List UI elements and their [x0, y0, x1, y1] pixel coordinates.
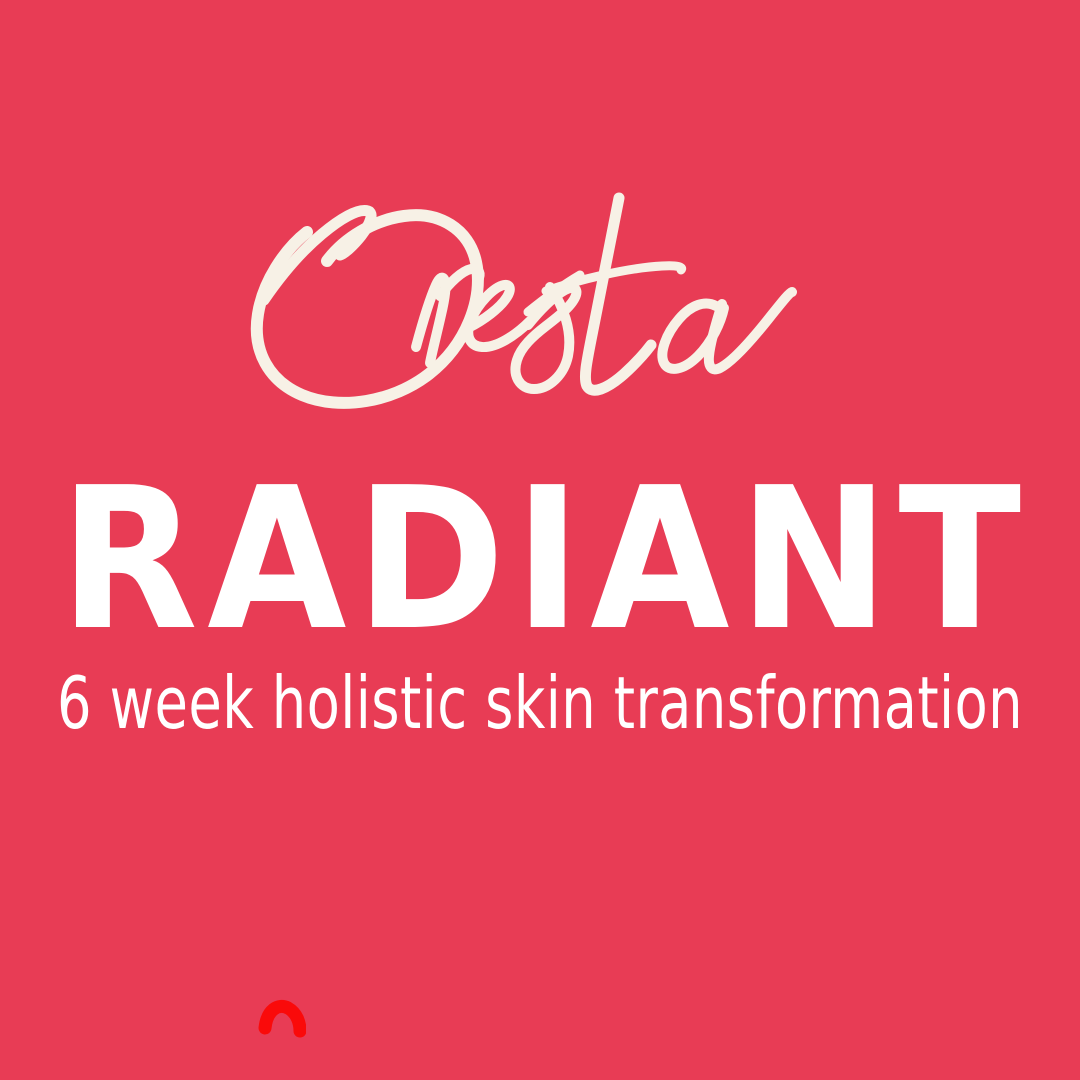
headline: RADIANT	[0, 470, 1080, 650]
tagline: 6 week holistic skin transformation	[0, 660, 1080, 746]
red-arc-mark	[256, 996, 306, 1038]
tagline-text: 6 week holistic skin transformation	[57, 667, 1023, 739]
poster-canvas: Oresta RADIANT	[0, 0, 1080, 1080]
headline-text: RADIANT	[50, 484, 1030, 637]
oresta-script-logo: Oresta	[228, 186, 832, 424]
